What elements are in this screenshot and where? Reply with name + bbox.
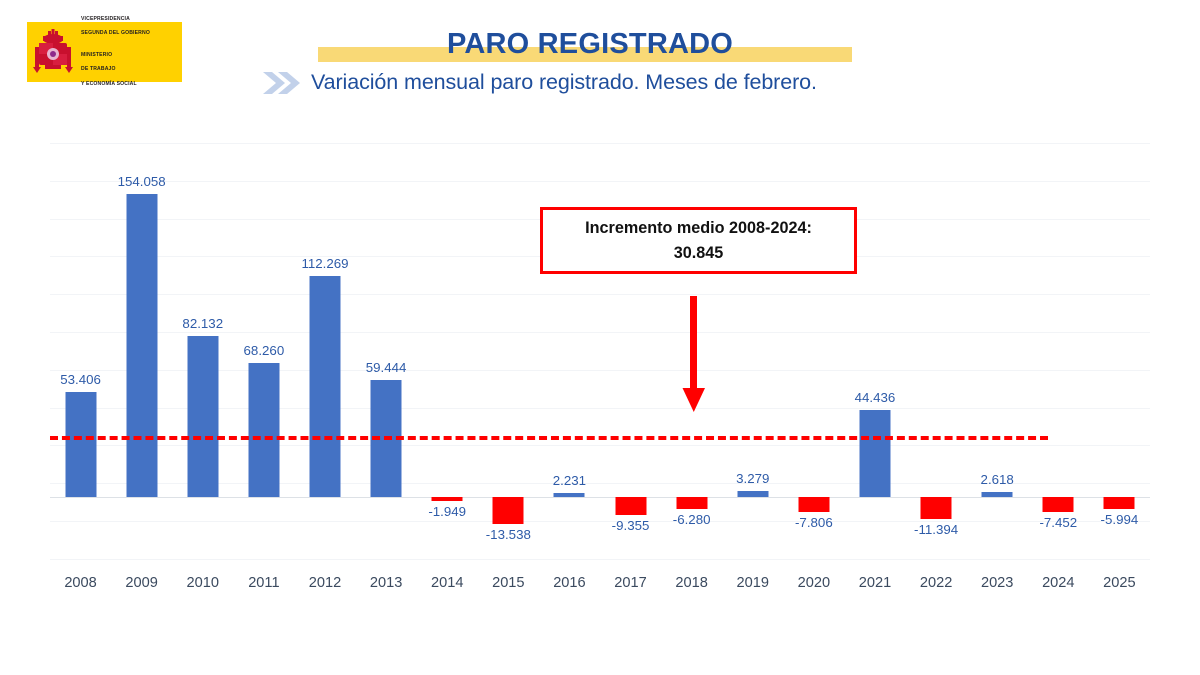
bar-value-label-2018: -6.280	[673, 512, 711, 527]
bar-2020[interactable]	[798, 497, 829, 512]
bar-value-label-2023: 2.618	[981, 472, 1014, 487]
bar-value-label-2008: 53.406	[60, 372, 101, 387]
chart-plot-area: 53.406154.05882.13268.260112.26959.444-1…	[50, 140, 1150, 560]
bar-2017[interactable]	[615, 497, 646, 515]
bar-2019[interactable]	[737, 491, 768, 497]
x-axis-tick-2014: 2014	[417, 575, 478, 605]
x-axis-tick-2023: 2023	[967, 575, 1028, 605]
logo-line-3: MINISTERIO	[81, 52, 112, 58]
bar-2009[interactable]	[126, 194, 157, 497]
bar-value-label-2017: -9.355	[612, 518, 650, 533]
x-axis-tick-2017: 2017	[600, 575, 661, 605]
bar-slot: 112.269	[294, 140, 355, 560]
x-axis-tick-2015: 2015	[478, 575, 539, 605]
bar-value-label-2009: 154.058	[118, 174, 166, 189]
x-axis-tick-2016: 2016	[539, 575, 600, 605]
annotation-callout: Incremento medio 2008-2024: 30.845	[540, 207, 857, 274]
x-axis-tick-2024: 2024	[1028, 575, 1089, 605]
ministry-logo: VICEPRESIDENCIA SEGUNDA DEL GOBIERNO MIN…	[27, 22, 182, 82]
bar-value-label-2024: -7.452	[1039, 515, 1077, 530]
bar-slot: 3.279	[722, 140, 783, 560]
x-axis-tick-2012: 2012	[294, 575, 355, 605]
bar-2016[interactable]	[554, 493, 585, 497]
logo-line-1: VICEPRESIDENCIA	[81, 16, 130, 22]
bar-2012[interactable]	[309, 276, 340, 497]
x-axis-tick-2021: 2021	[844, 575, 905, 605]
x-axis-tick-2009: 2009	[111, 575, 172, 605]
x-axis-tick-2013: 2013	[356, 575, 417, 605]
bar-value-label-2021: 44.436	[855, 390, 896, 405]
bar-value-label-2025: -5.994	[1101, 512, 1139, 527]
bar-2023[interactable]	[982, 492, 1013, 497]
chart-bars: 53.406154.05882.13268.260112.26959.444-1…	[50, 140, 1150, 560]
chart-x-axis: 2008200920102011201220132014201520162017…	[50, 575, 1150, 605]
double-chevron-right-icon	[261, 70, 303, 96]
logo-line-5: Y ECONOMÍA SOCIAL	[81, 81, 137, 87]
bar-slot: -11.394	[906, 140, 967, 560]
bar-slot: 53.406	[50, 140, 111, 560]
annotation-line-2: 30.845	[674, 241, 724, 265]
bar-2015[interactable]	[493, 497, 524, 524]
page-title: PARO REGISTRADO	[300, 28, 880, 61]
page-subtitle: Variación mensual paro registrado. Meses…	[311, 70, 817, 95]
down-arrow-icon	[681, 296, 707, 412]
bar-slot: -13.538	[478, 140, 539, 560]
bar-2014[interactable]	[432, 497, 463, 501]
bar-slot: -1.949	[417, 140, 478, 560]
bar-slot: 2.618	[967, 140, 1028, 560]
bar-slot: 68.260	[233, 140, 294, 560]
bar-slot: -7.806	[783, 140, 844, 560]
x-axis-tick-2020: 2020	[783, 575, 844, 605]
bar-2018[interactable]	[676, 497, 707, 509]
bar-slot: -9.355	[600, 140, 661, 560]
bar-value-label-2012: 112.269	[301, 256, 348, 271]
x-axis-tick-2025: 2025	[1089, 575, 1150, 605]
bar-slot: 2.231	[539, 140, 600, 560]
x-axis-tick-2008: 2008	[50, 575, 111, 605]
bar-2025[interactable]	[1104, 497, 1135, 509]
bar-value-label-2015: -13.538	[486, 527, 531, 542]
bar-slot: -7.452	[1028, 140, 1089, 560]
average-reference-line	[50, 436, 1048, 440]
bar-2024[interactable]	[1043, 497, 1074, 512]
spain-coat-of-arms-icon	[31, 27, 75, 77]
bar-2022[interactable]	[921, 497, 952, 519]
bar-2011[interactable]	[248, 363, 279, 497]
bar-value-label-2022: -11.394	[914, 522, 958, 537]
x-axis-tick-2011: 2011	[233, 575, 294, 605]
x-axis-tick-2019: 2019	[722, 575, 783, 605]
annotation-line-1: Incremento medio 2008-2024:	[585, 216, 812, 240]
bar-value-label-2013: 59.444	[366, 360, 407, 375]
slide-canvas: VICEPRESIDENCIA SEGUNDA DEL GOBIERNO MIN…	[0, 0, 1200, 675]
bar-slot: 44.436	[844, 140, 905, 560]
bar-value-label-2020: -7.806	[795, 515, 833, 530]
bar-slot: 154.058	[111, 140, 172, 560]
ministry-logo-text: VICEPRESIDENCIA SEGUNDA DEL GOBIERNO MIN…	[81, 9, 150, 95]
bar-2010[interactable]	[187, 336, 218, 497]
bar-slot: 82.132	[172, 140, 233, 560]
logo-line-2: SEGUNDA DEL GOBIERNO	[81, 30, 150, 36]
bar-2008[interactable]	[65, 392, 96, 497]
bar-value-label-2019: 3.279	[736, 471, 769, 486]
bar-value-label-2011: 68.260	[244, 343, 285, 358]
bar-2021[interactable]	[859, 410, 890, 497]
x-axis-tick-2022: 2022	[906, 575, 967, 605]
bar-value-label-2016: 2.231	[553, 473, 586, 488]
bar-value-label-2010: 82.132	[182, 316, 223, 331]
bar-value-label-2014: -1.949	[428, 504, 466, 519]
bar-slot: 59.444	[356, 140, 417, 560]
x-axis-tick-2010: 2010	[172, 575, 233, 605]
x-axis-tick-2018: 2018	[661, 575, 722, 605]
bar-slot: -5.994	[1089, 140, 1150, 560]
logo-line-4: DE TRABAJO	[81, 66, 116, 72]
